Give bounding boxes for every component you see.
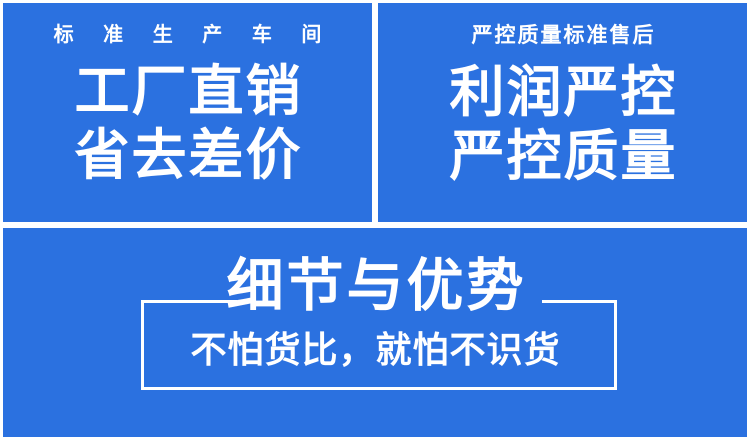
details-advantages-title: 细节与优势 [3, 258, 747, 315]
panel-details-advantages: 细节与优势 不怕货比，就怕不识货 [3, 228, 747, 437]
panel-quality-control-content: 严控质量标准售后 利润严控 严控质量 [378, 3, 747, 222]
quality-control-headline-line1: 利润严控 [447, 62, 677, 124]
factory-direct-headline-line1: 工厂直销 [72, 61, 302, 123]
quality-control-headline-line2: 严控质量 [447, 126, 677, 188]
panel-quality-control: 严控质量标准售后 利润严控 严控质量 [378, 3, 747, 222]
factory-direct-headline-line2: 省去差价 [72, 125, 302, 187]
panel-factory-direct: 标 准 生 产 车 间 工厂直销 省去差价 [3, 3, 372, 222]
factory-direct-eyebrow: 标 准 生 产 车 间 [42, 25, 334, 45]
promo-banner: 标 准 生 产 车 间 工厂直销 省去差价 严控质量标准售后 利润严控 严控质量… [0, 0, 750, 440]
quality-control-eyebrow: 严控质量标准售后 [470, 25, 656, 46]
panel-factory-direct-content: 标 准 生 产 车 间 工厂直销 省去差价 [3, 3, 372, 222]
details-advantages-subtitle: 不怕货比，就怕不识货 [3, 332, 747, 368]
